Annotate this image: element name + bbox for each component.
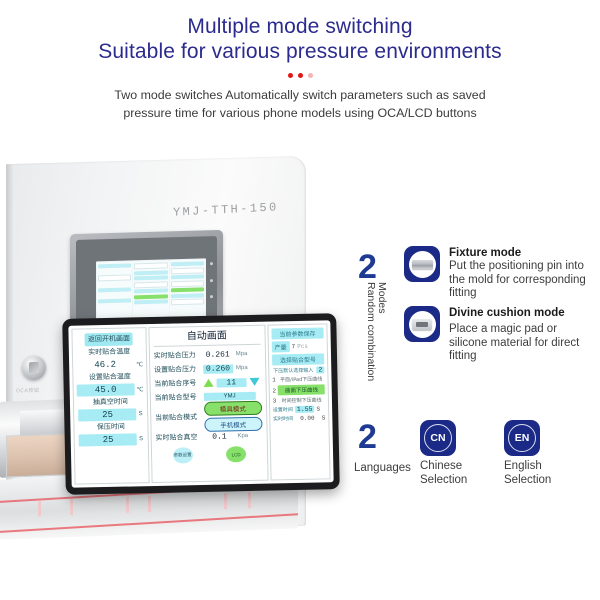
parameter-settings-button[interactable]: 参数设置 (172, 447, 192, 463)
mode-fixture-title: Fixture mode (449, 246, 597, 260)
screen-bar (134, 288, 167, 293)
led-icon (210, 262, 213, 265)
realtime-temp-label: 实时贴合温度 (88, 347, 130, 357)
lcd-center-panel: 自动画面 实时贴合压力 0.261 Mpa 设置贴合压力 0.260 Mpa 当… (148, 325, 268, 483)
en-badge-icon[interactable]: EN (504, 420, 540, 456)
realtime-vacuum-unit: Kpa (237, 433, 248, 439)
dot-separator (0, 73, 600, 78)
hold-pressure-time-value[interactable]: 25 (79, 433, 137, 446)
real-time-value: 0.00 (295, 415, 320, 423)
real-time-row: 实时时间 0.00 S (273, 414, 325, 422)
current-mode-label: 当前贴合模式 (155, 412, 201, 423)
screen-bar (98, 298, 131, 303)
dot-icon (298, 73, 303, 78)
fixture-shape (412, 260, 433, 269)
en-caption-line2: Selection (504, 474, 551, 488)
oca-knob-label: OCA按钮 (16, 388, 39, 396)
screen-bar (98, 282, 131, 287)
touchscreen-ui: 返回开机画面 实时贴合温度 46.2 ℃ 设置贴合温度 45.0 ℃ 抽真空时间… (68, 320, 333, 487)
screen-bar (171, 287, 204, 292)
header: Multiple mode switching Suitable for var… (0, 14, 600, 121)
mode-cushion-text: Divine cushion mode Place a magic pad or… (449, 306, 597, 364)
screen-bar (171, 280, 204, 287)
option-index: 2 (272, 387, 276, 394)
mode-item-fixture: Fixture mode Put the positioning pin int… (404, 246, 597, 301)
lcd-right-panel: 当前参数保存 产量 7 Pcs 选择贴合型号 下压默认选择输入 2 1 平面/i… (267, 323, 331, 480)
dot-icon (288, 73, 293, 78)
modes-vertical-label-2: Random combination (365, 282, 377, 381)
current-model-value[interactable]: YMJ (204, 392, 256, 401)
output-unit: Pcs (297, 343, 308, 350)
hold-pressure-time-label: 保压时间 (97, 423, 125, 433)
set-temp-value[interactable]: 45.0 (77, 383, 135, 396)
set-pressure-value[interactable]: 0.260 (203, 364, 233, 374)
decrement-arrow-icon[interactable] (249, 378, 259, 386)
realtime-pressure-label: 实时贴合压力 (154, 350, 200, 361)
mode-fixture-description: Put the positioning pin into the mold fo… (449, 260, 597, 301)
press-option-1[interactable]: 1 平面/iPad下压曲线 (272, 375, 324, 383)
en-code: EN (508, 424, 536, 452)
screen-bar (171, 293, 204, 298)
current-model-label: 当前贴合型号 (155, 392, 201, 403)
screen-bar (171, 298, 204, 305)
subtitle-line1: Two mode switches Automatically switch p… (0, 87, 600, 104)
press-option-2[interactable]: 2 曲面下压曲线 (272, 384, 324, 395)
realtime-vacuum-value: 0.1 (204, 432, 234, 442)
option-label: 时间控制下压曲线 (278, 396, 325, 404)
vacuum-time-row: 25 S (78, 408, 142, 421)
set-time-label: 设置时间 (273, 406, 293, 413)
press-option-3[interactable]: 3 时间控制下压曲线 (273, 396, 325, 404)
vacuum-time-label: 抽真空时间 (93, 398, 128, 408)
current-serial-label: 当前贴合序号 (154, 378, 200, 389)
page-title-line2: Suitable for various pressure environmen… (0, 39, 600, 64)
set-time-value[interactable]: 1.55 (295, 406, 315, 413)
languages-annotation: 2 Languages CN Chinese Selection EN Engl… (358, 420, 600, 500)
screen-bar (134, 270, 167, 275)
current-mode-row: 当前贴合模式 模具模式 手机模式 (155, 403, 263, 431)
modes-count: 2 (358, 250, 377, 284)
cn-caption-line2: Selection (420, 474, 467, 488)
hold-pressure-time-row: 25 S (79, 433, 143, 446)
cushion-inner (416, 322, 428, 327)
cn-code: CN (424, 424, 452, 452)
output-row: 产量 7 Pcs (271, 340, 323, 352)
real-time-label: 实时时间 (273, 415, 293, 422)
set-temp-label: 设置贴合温度 (89, 372, 131, 382)
led-icon (210, 295, 213, 298)
mode-fixture-text: Fixture mode Put the positioning pin int… (449, 246, 597, 301)
option-label-active: 曲面下压曲线 (278, 384, 325, 395)
machine-strut (38, 500, 41, 516)
subtitle-line2: pressure time for various phone models u… (0, 105, 600, 122)
vacuum-time-value[interactable]: 25 (78, 408, 136, 421)
language-option-en[interactable]: EN English Selection (504, 420, 551, 487)
cn-caption-line1: Chinese (420, 460, 467, 474)
screen-bar (171, 267, 204, 274)
icon-disc (409, 311, 436, 338)
output-value: 7 (292, 343, 296, 350)
status-led-strip (210, 262, 213, 298)
screen-bar (98, 293, 131, 298)
set-time-unit: S (316, 406, 320, 413)
machine-strut (148, 496, 151, 512)
modes-annotation: 2 Modes Random combination Fixture mode … (358, 246, 600, 366)
realtime-temp-value: 46.2 (76, 358, 134, 371)
dot-icon-faded (308, 73, 313, 78)
screen-bar (134, 281, 167, 288)
realtime-vacuum-label: 实时贴合真空 (155, 432, 201, 443)
icon-disc (409, 251, 436, 278)
fixture-plate-icon[interactable] (404, 246, 440, 282)
screen-bar (98, 274, 131, 281)
set-temp-row: 45.0 ℃ (77, 383, 144, 396)
machine-strut (248, 492, 251, 508)
screen-bar (98, 263, 131, 268)
machine-strut (70, 499, 73, 515)
led-icon (210, 279, 213, 282)
realtime-vacuum-row: 实时贴合真空 0.1 Kpa (155, 429, 262, 445)
vacuum-time-unit: S (138, 411, 142, 417)
select-model-button[interactable]: 选择贴合型号 (272, 353, 324, 365)
press-default-row: 下压默认选择输入 2 (272, 366, 324, 374)
lcd-mode-button[interactable]: LCD (226, 446, 246, 462)
output-label: 产量 (271, 341, 289, 352)
lcd-left-panel: 返回开机画面 实时贴合温度 46.2 ℃ 设置贴合温度 45.0 ℃ 抽真空时间… (71, 327, 149, 485)
set-pressure-unit: Mpa (236, 365, 248, 371)
real-time-unit: S (322, 414, 326, 421)
option-index: 3 (273, 397, 277, 404)
screen-bar (98, 287, 131, 292)
increment-arrow-icon[interactable] (203, 379, 213, 387)
option-label: 平面/iPad下压曲线 (278, 375, 325, 383)
current-serial-value[interactable]: 11 (216, 378, 246, 388)
screen-bar (134, 294, 167, 299)
languages-label: Languages (354, 462, 411, 474)
screen-bar (98, 269, 131, 274)
cushion-pad-icon[interactable] (404, 306, 440, 342)
modes-vertical-label-1: Modes (376, 282, 388, 314)
auto-screen-title: 自动画面 (153, 329, 260, 347)
language-option-cn[interactable]: CN Chinese Selection (420, 420, 467, 487)
option-index: 1 (272, 376, 276, 383)
promo-slide: Multiple mode switching Suitable for var… (0, 0, 600, 600)
hold-pressure-time-unit: S (139, 436, 143, 442)
set-pressure-label: 设置贴合压力 (154, 364, 200, 375)
screen-bar (171, 274, 204, 279)
machine-strut (224, 493, 227, 509)
realtime-pressure-unit: Mpa (236, 351, 248, 357)
press-default-value[interactable]: 2 (316, 366, 324, 373)
realtime-temp-unit: ℃ (136, 361, 143, 368)
screen-bar (134, 299, 167, 304)
realtime-temp-row: 46.2 ℃ (76, 358, 143, 371)
mode-cushion-title: Divine cushion mode (449, 306, 597, 320)
back-to-startup-button[interactable]: 返回开机画面 (85, 332, 133, 346)
machine-strut (126, 497, 129, 513)
screen-bar (134, 262, 167, 269)
lcd-center-buttons: 参数设置 LCD (156, 446, 263, 464)
screen-bar (134, 275, 167, 280)
set-temp-unit: ℃ (137, 386, 144, 393)
en-caption-line1: English (504, 460, 551, 474)
set-time-row: 设置时间 1.55 S (273, 405, 325, 413)
cushion-shape (412, 319, 432, 330)
touchscreen-panel[interactable]: 返回开机画面 实时贴合温度 46.2 ℃ 设置贴合温度 45.0 ℃ 抽真空时间… (62, 313, 340, 495)
realtime-pressure-value: 0.261 (203, 350, 233, 360)
cn-badge-icon[interactable]: CN (420, 420, 456, 456)
languages-count: 2 (358, 420, 377, 454)
press-default-label: 下压默认选择输入 (272, 367, 314, 374)
screen-bar (171, 261, 204, 266)
mode-cushion-description: Place a magic pad or silicone material f… (449, 323, 597, 364)
mode-item-cushion: Divine cushion mode Place a magic pad or… (404, 306, 597, 364)
page-title-line1: Multiple mode switching (0, 14, 600, 39)
mode-fixture-button[interactable]: 模具模式 (204, 401, 262, 416)
save-parameters-button[interactable]: 当前参数保存 (271, 327, 323, 339)
